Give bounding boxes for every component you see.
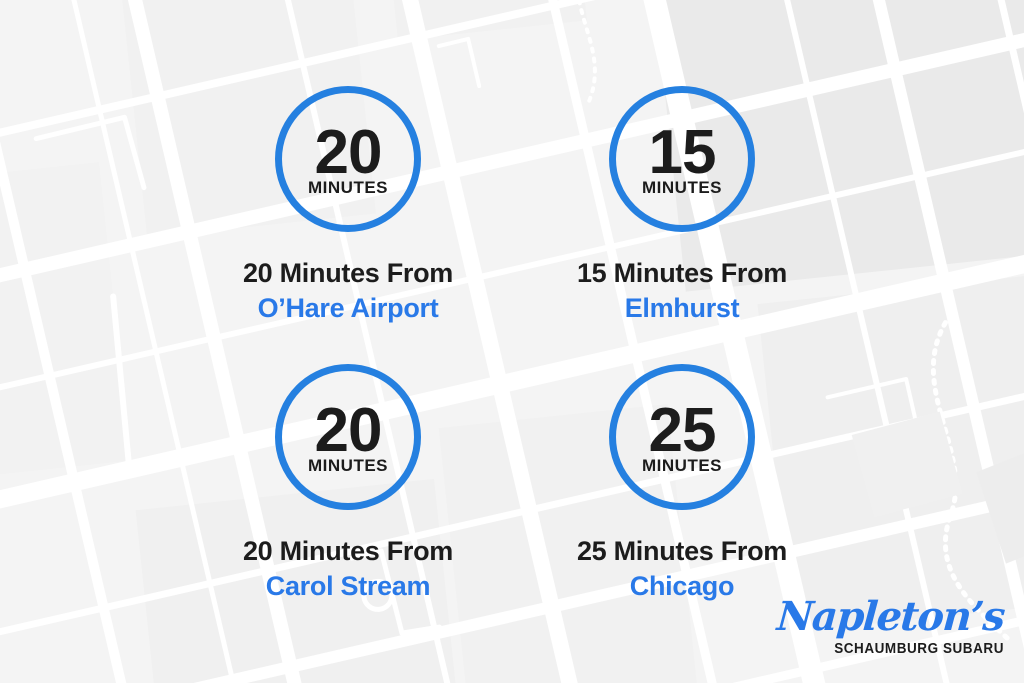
drive-time-cards: 20 MINUTES 20 Minutes From O’Hare Airpor… — [0, 0, 1024, 683]
card-caption: 25 Minutes From Chicago — [472, 536, 892, 601]
badge-number: 20 — [315, 124, 382, 183]
badge-number: 25 — [649, 402, 716, 461]
drive-time-card-chicago: 25 MINUTES 25 Minutes From Chicago — [472, 364, 892, 601]
badge-unit-label: MINUTES — [642, 456, 722, 476]
promo-graphic: 20 MINUTES 20 Minutes From O’Hare Airpor… — [0, 0, 1024, 683]
badge-unit-label: MINUTES — [308, 456, 388, 476]
caption-primary: 15 Minutes From — [472, 258, 892, 288]
card-caption: 15 Minutes From Elmhurst — [472, 258, 892, 323]
caption-location: Elmhurst — [472, 293, 892, 323]
logo-subtitle: SCHAUMBURG SUBARU — [825, 641, 1004, 657]
badge-number: 15 — [649, 124, 716, 183]
logo-wordmark: Napleton’s — [776, 594, 1006, 640]
badge-unit-label: MINUTES — [642, 178, 722, 198]
drive-time-card-elmhurst: 15 MINUTES 15 Minutes From Elmhurst — [472, 86, 892, 323]
minutes-badge: 25 MINUTES — [609, 364, 755, 510]
badge-number: 20 — [315, 402, 382, 461]
minutes-badge: 15 MINUTES — [609, 86, 755, 232]
badge-unit-label: MINUTES — [308, 178, 388, 198]
minutes-badge: 20 MINUTES — [275, 364, 421, 510]
dealership-logo: Napleton’s SCHAUMBURG SUBARU — [812, 594, 1004, 666]
logo-script-wrap: Napleton’s — [812, 594, 1004, 640]
caption-primary: 25 Minutes From — [472, 536, 892, 566]
minutes-badge: 20 MINUTES — [275, 86, 421, 232]
